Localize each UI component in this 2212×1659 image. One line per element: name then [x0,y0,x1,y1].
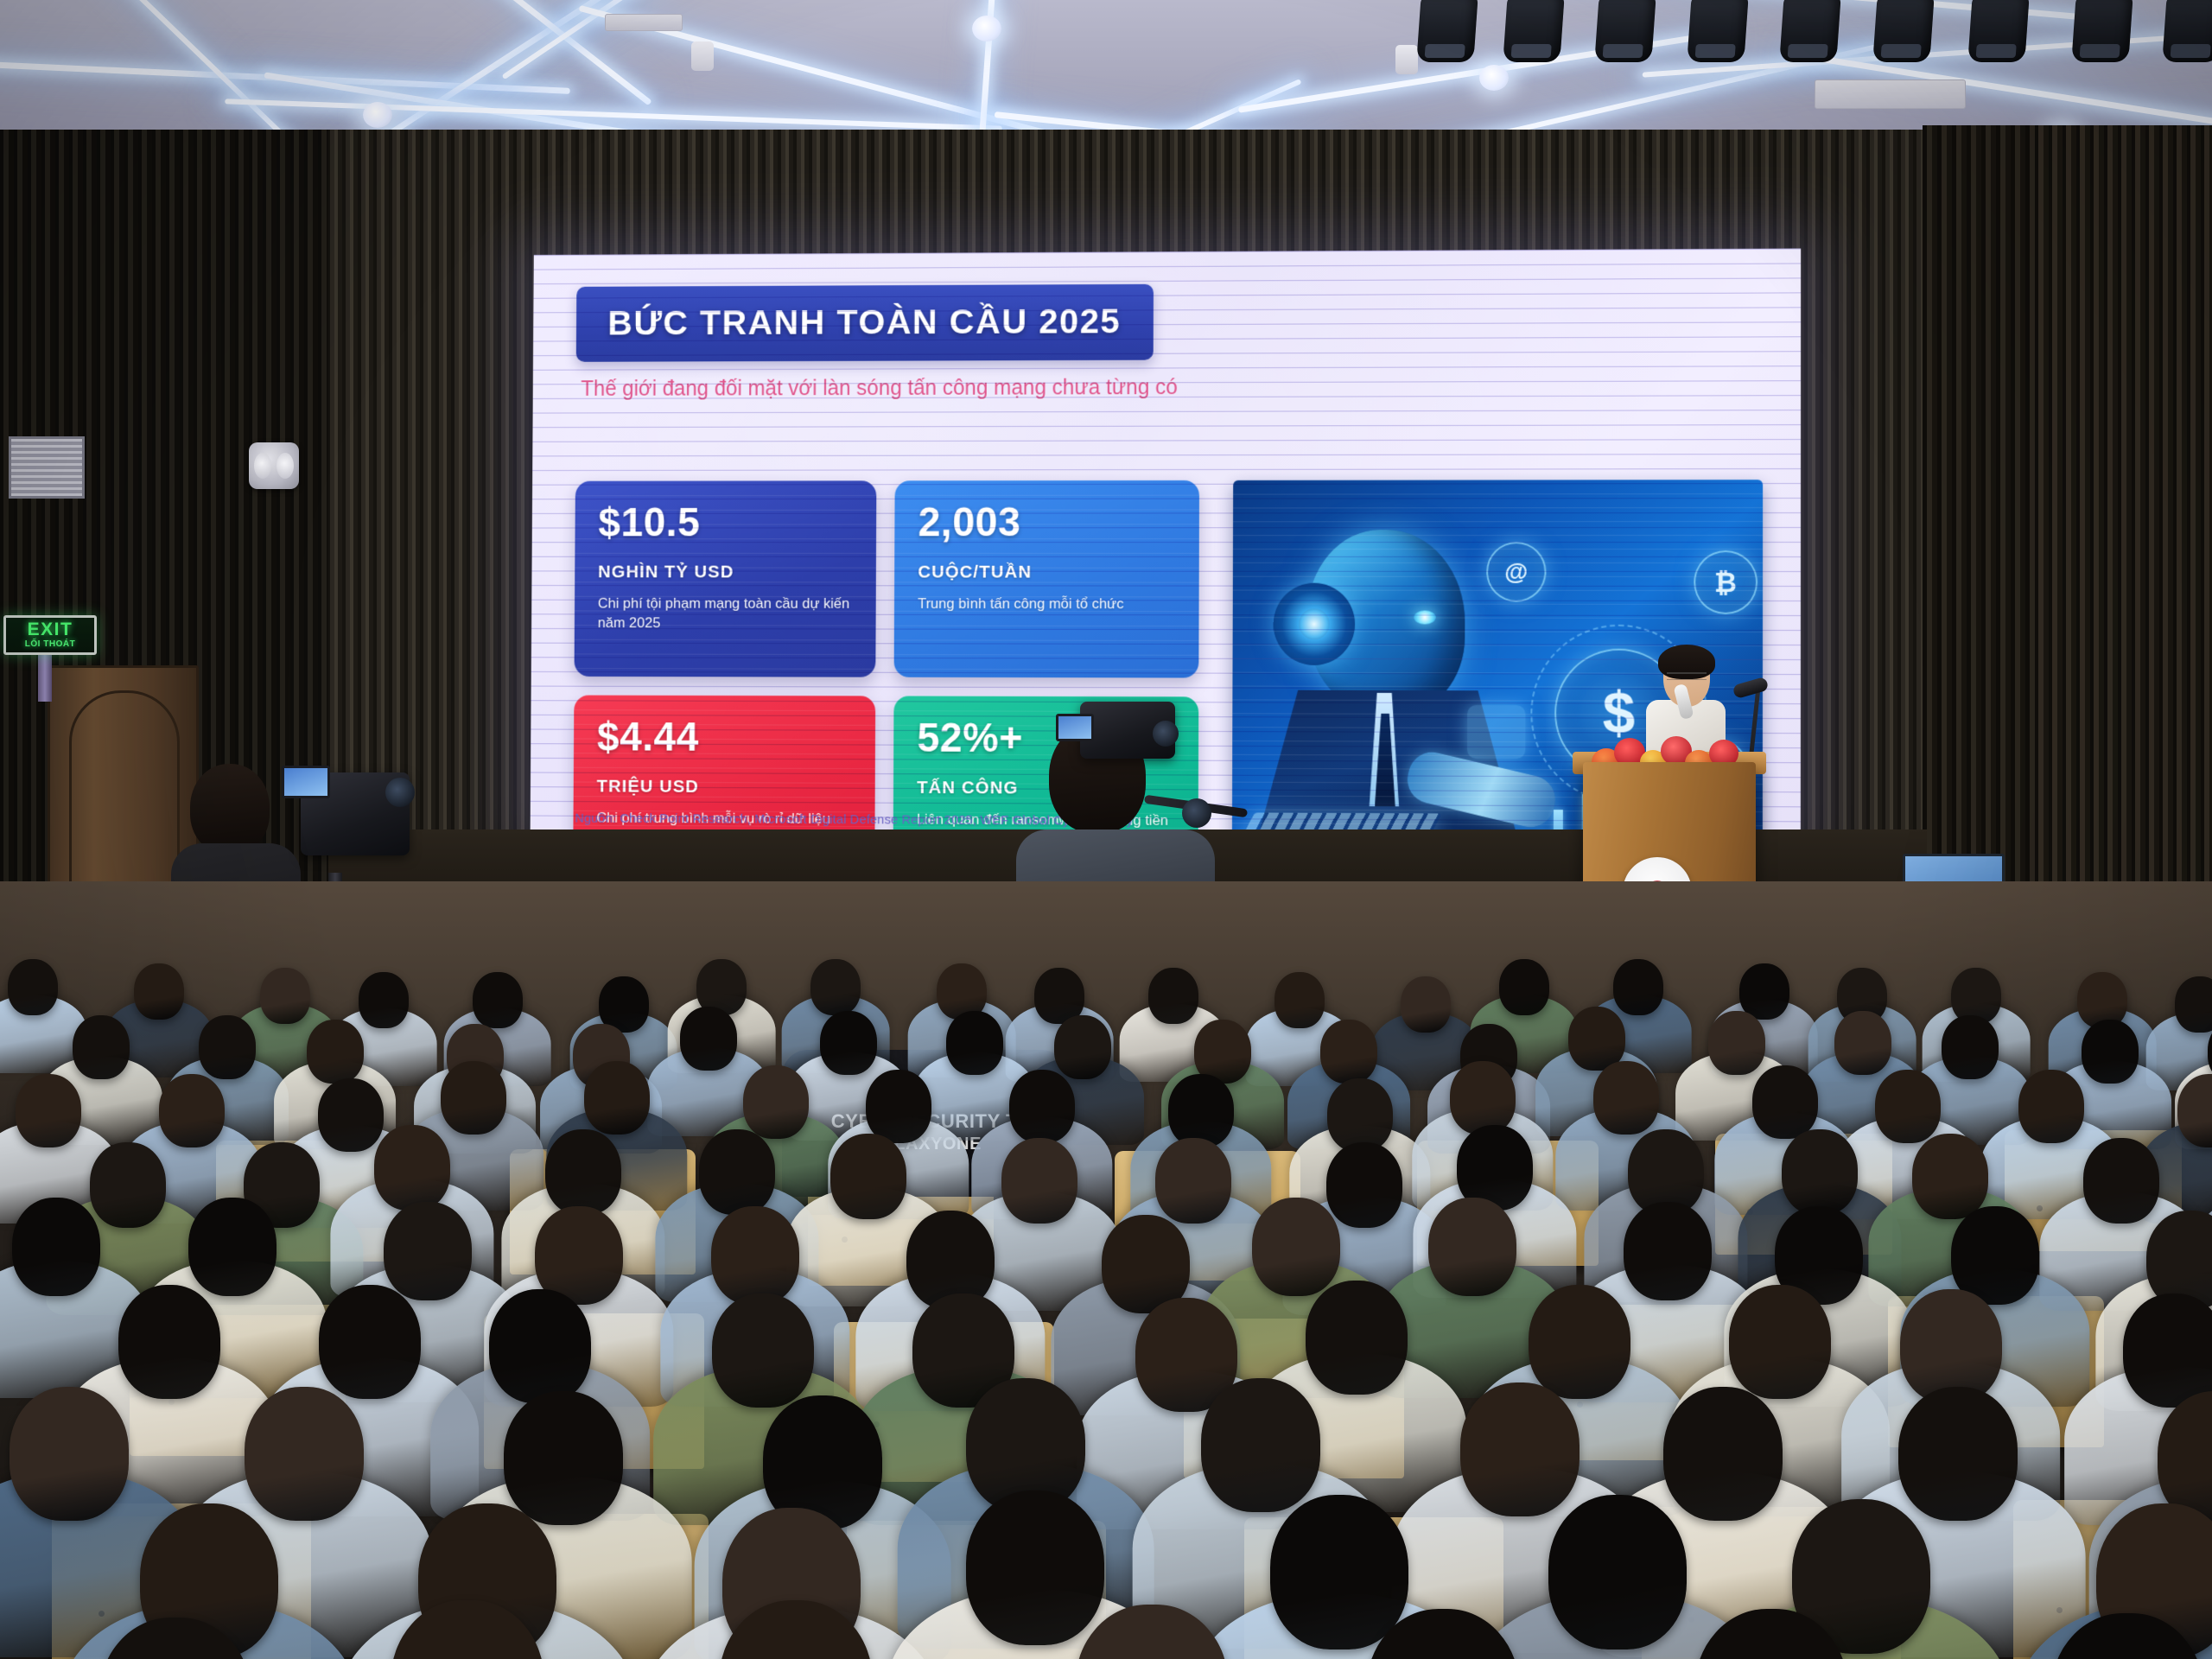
attendee-head [10,1387,129,1521]
stat-description: Chi phí tội phạm mạng toàn cầu dự kiến n… [598,594,855,633]
ceiling-vent [605,14,683,31]
audience-member [1278,1609,1609,1659]
attendee-head [12,1198,100,1296]
attendee-head [159,1074,225,1147]
attendee-head [584,1061,650,1135]
attendee-head [1075,1605,1229,1659]
audience-member [1606,1609,1937,1659]
attendee-head [188,1198,276,1296]
attendee-head [1009,1070,1075,1143]
ceiling-lamp [972,16,1001,41]
stat-description: Trung bình tấn công mỗi tổ chức [918,594,1177,614]
camera-grip-icon [1182,798,1211,828]
audience-member [10,1618,341,1659]
stat-card-attacks-per-week: 2,003 CUỘC/TUẦN Trung bình tấn công mỗi … [893,480,1198,677]
glasses-icon [1667,672,1707,680]
attendee-head [374,1125,450,1211]
stage-light-fixture [2071,0,2133,62]
stage-light-fixture [1872,0,1934,62]
stat-label: NGHÌN TỶ USD [598,563,855,583]
ceiling-vent [1815,79,1966,109]
attendee-head [1752,1065,1818,1139]
exit-sign-sub-label: LỐI THOÁT [25,639,75,650]
exit-sign-post [38,655,52,702]
stat-label: TRIỆU USD [597,776,854,798]
robot-tie [1375,714,1395,807]
attendee-head [680,1007,737,1071]
stat-card-cybercrime-cost: $10.5 NGHÌN TỶ USD Chi phí tội phạm mạng… [575,480,877,677]
operator-head [190,764,270,854]
stage-light-fixture [1779,0,1840,62]
ceiling-lamp [1479,65,1509,91]
robot-shirt [1359,693,1408,806]
robot-eye-icon [1414,611,1436,625]
attendee-head [319,1285,421,1399]
camera-lens-icon [1153,721,1179,747]
ceiling-spotlight [691,41,714,71]
attendee-head [719,1600,873,1659]
attendee-head [1729,1285,1831,1399]
stage-light-fixture [1594,0,1656,62]
exit-sign: EXIT LỐI THOÁT [3,615,97,655]
attendee-head [16,1074,81,1147]
attendee-head [743,1065,809,1139]
stage-light-fixture [1967,0,2029,62]
attendee-head [2018,1070,2084,1143]
ceiling-led-strip [225,99,1002,130]
exit-sign-main-label: EXIT [28,620,73,639]
camera-lens-icon [385,778,415,807]
attendee-head [1320,1020,1377,1084]
audience-member [1962,1613,2212,1659]
attendee-head [489,1289,591,1403]
audience-member [986,1605,1317,1659]
stat-value: $4.44 [597,717,854,759]
attendee-head [1593,1061,1659,1135]
back-wall-far-right-column [2035,125,2212,972]
attendee-head [391,1600,544,1659]
attendee-head [307,1020,364,1084]
bitcoin-icon: ₿ [1694,550,1758,614]
stat-value: 2,003 [918,503,1177,543]
attendee-head [712,1294,814,1408]
attendee-head [1450,1061,1516,1135]
stage-light-fixture [2162,0,2212,62]
attendee-head [8,959,58,1015]
door-panel [69,690,180,898]
stat-label: CUỘC/TUẦN [918,563,1177,583]
attendee-head [1782,1129,1858,1215]
back-wall-right-column [1923,125,2035,955]
camera-lcd-screen [1056,714,1094,741]
attendee-head [1366,1609,1520,1659]
wall-speaker-icon [249,442,299,489]
attendee-head [699,1129,775,1215]
attendee-head [2050,1613,2204,1659]
ceiling-lamp [363,102,392,128]
attendee-head [946,1011,1003,1075]
robot-head-icon [1307,530,1465,715]
attendee-head [545,1129,621,1215]
conference-hall-scene: EXIT LỐI THOÁT BỨC TRANH TOÀN CẦU 2025 T… [0,0,2212,1659]
audience-member [302,1600,632,1659]
attendee-head [73,1015,130,1079]
air-vent [9,436,85,499]
attendee-head [118,1285,220,1399]
audience-member [630,1600,961,1659]
attendee-head [473,972,523,1028]
hud-square-decoration [1467,705,1525,759]
attendee-head [1148,968,1198,1024]
stage-light-fixture [1687,0,1748,62]
at-sign-icon: @ [1486,542,1546,602]
ceiling-spotlight [1395,45,1418,74]
robot-arm [1402,747,1560,832]
attendee-head [199,1015,256,1079]
slide-title: BỨC TRANH TOÀN CẦU 2025 [576,284,1154,362]
robot-ear-icon [1273,583,1355,665]
attendee-head [134,963,184,1020]
attendee-head [810,959,861,1015]
slide-subtitle: Thế giới đang đối mặt với làn sóng tấn c… [581,373,1217,403]
camera-lcd-screen [282,766,330,798]
attendee-head [1201,1378,1320,1512]
attendee-head [441,1061,506,1135]
stage-light-fixture [1503,0,1564,62]
attendee-head [1327,1078,1393,1152]
attendee-head [1168,1074,1234,1147]
attendee-head [245,1387,364,1521]
attendee-head [99,1618,252,1659]
stat-value: $10.5 [598,503,855,543]
attendee-head [711,1206,799,1305]
attendee-head [866,1070,931,1143]
stage-light-fixture [1416,0,1478,62]
attendee-head [1694,1609,1848,1659]
